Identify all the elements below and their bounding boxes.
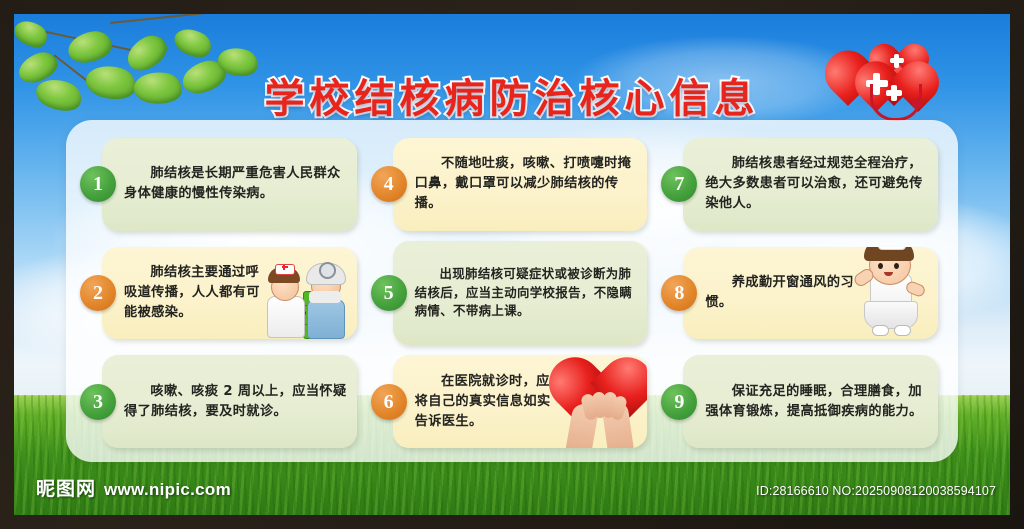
- info-card-cell: 养成勤开窗通风的习惯。: [661, 241, 944, 346]
- info-card-text: 出现肺结核可疑症状或被诊断为肺结核后，应当主动向学校报告，不隐瞒病情、不带病上课…: [393, 259, 648, 327]
- info-card-number: 8: [661, 275, 697, 311]
- info-card-number: 6: [371, 384, 407, 420]
- info-card-number: 4: [371, 166, 407, 202]
- site-name-cn: 昵图网: [36, 474, 96, 501]
- info-card-number: 2: [80, 275, 116, 311]
- info-card-number: 5: [371, 275, 407, 311]
- info-card[interactable]: 保证充足的睡眠，合理膳食，加强体育锻炼，提高抵御疾病的能力。: [683, 355, 938, 448]
- info-card-text: 养成勤开窗通风的习惯。: [683, 267, 938, 319]
- info-card-text: 在医院就诊时，应将自己的真实信息如实告诉医生。: [393, 366, 648, 438]
- info-card[interactable]: 肺结核主要通过呼吸道传播，人人都有可能被感染。: [102, 247, 357, 340]
- info-card-cell: 出现肺结核可疑症状或被诊断为肺结核后，应当主动向学校报告，不隐瞒病情、不带病上课…: [371, 241, 654, 346]
- site-url: www.nipic.com: [104, 480, 231, 500]
- info-card[interactable]: 养成勤开窗通风的习惯。: [683, 247, 938, 340]
- info-card-cell: 肺结核是长期严重危害人民群众身体健康的慢性传染病。 1: [80, 132, 363, 237]
- info-card-cell: 肺结核主要通过呼吸道传播，人人都有可能被感染。: [80, 241, 363, 346]
- info-card[interactable]: 咳嗽、咳痰 2 周以上，应当怀疑得了肺结核，要及时就诊。: [102, 355, 357, 448]
- image-id-text: ID:28166610 NO:20250908120038594107: [756, 484, 996, 498]
- info-card-text: 保证充足的睡眠，合理膳食，加强体育锻炼，提高抵御疾病的能力。: [683, 376, 938, 428]
- info-card-number: 1: [80, 166, 116, 202]
- info-card-cell: 保证充足的睡眠，合理膳食，加强体育锻炼，提高抵御疾病的能力。 9: [661, 349, 944, 454]
- info-card-cell: 在医院就诊时，应将自己的真实信息如实告诉医生。 6: [371, 349, 654, 454]
- info-card[interactable]: 不随地吐痰，咳嗽、打喷嚏时掩口鼻，戴口罩可以减少肺结核的传播。: [393, 138, 648, 231]
- info-card-number: 7: [661, 166, 697, 202]
- info-card[interactable]: 肺结核患者经过规范全程治疗，绝大多数患者可以治愈，还可避免传染他人。: [683, 138, 938, 231]
- info-card-grid: 肺结核是长期严重危害人民群众身体健康的慢性传染病。 1 不随地吐痰，咳嗽、打喷嚏…: [80, 132, 944, 454]
- info-card-cell: 肺结核患者经过规范全程治疗，绝大多数患者可以治愈，还可避免传染他人。 7: [661, 132, 944, 237]
- poster-frame: 学校结核病防治核心信息 肺结核是长期严重危害人民群众身体健康的慢性传染病。 1 …: [0, 0, 1024, 529]
- poster-artwork: 学校结核病防治核心信息 肺结核是长期严重危害人民群众身体健康的慢性传染病。 1 …: [14, 14, 1010, 515]
- info-card-text: 肺结核患者经过规范全程治疗，绝大多数患者可以治愈，还可避免传染他人。: [683, 148, 938, 220]
- info-card-text: 肺结核主要通过呼吸道传播，人人都有可能被感染。: [102, 257, 357, 329]
- info-card[interactable]: 出现肺结核可疑症状或被诊断为肺结核后，应当主动向学校报告，不隐瞒病情、不带病上课…: [393, 241, 648, 346]
- info-card-text: 咳嗽、咳痰 2 周以上，应当怀疑得了肺结核，要及时就诊。: [102, 376, 357, 428]
- info-card[interactable]: 肺结核是长期严重危害人民群众身体健康的慢性传染病。: [102, 138, 357, 231]
- page-title: 学校结核病防治核心信息: [14, 66, 1010, 124]
- info-card-cell: 咳嗽、咳痰 2 周以上，应当怀疑得了肺结核，要及时就诊。 3: [80, 349, 363, 454]
- info-card-text: 肺结核是长期严重危害人民群众身体健康的慢性传染病。: [102, 158, 357, 210]
- info-card[interactable]: 在医院就诊时，应将自己的真实信息如实告诉医生。: [393, 355, 648, 448]
- info-card-number: 9: [661, 384, 697, 420]
- info-card-cell: 不随地吐痰，咳嗽、打喷嚏时掩口鼻，戴口罩可以减少肺结核的传播。 4: [371, 132, 654, 237]
- site-watermark: 昵图网 www.nipic.com: [36, 474, 231, 501]
- info-card-number: 3: [80, 384, 116, 420]
- info-card-text: 不随地吐痰，咳嗽、打喷嚏时掩口鼻，戴口罩可以减少肺结核的传播。: [393, 148, 648, 220]
